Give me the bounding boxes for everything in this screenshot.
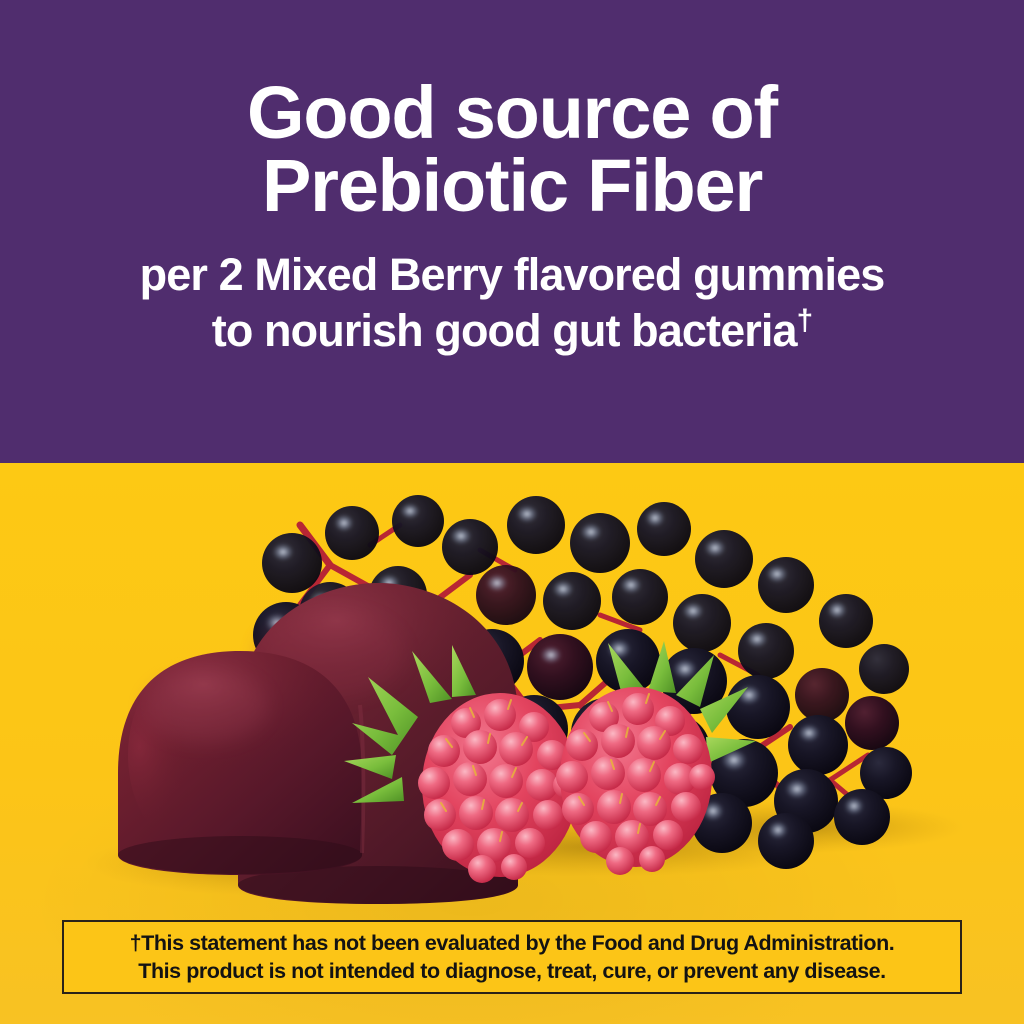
subheadline-line-2: to nourish good gut bacteria†: [22, 303, 1002, 360]
headline: Good source of Prebiotic Fiber: [32, 76, 992, 223]
hero-produce-illustration: [0, 463, 1024, 925]
gummy-front-left: [118, 651, 363, 875]
disclaimer-line-2: This product is not intended to diagnose…: [138, 957, 885, 985]
headline-line-1: Good source of: [32, 76, 992, 149]
fda-disclaimer-box: †This statement has not been evaluated b…: [62, 920, 962, 994]
subheadline-line-1: per 2 Mixed Berry flavored gummies: [22, 247, 1002, 304]
header-band: Good source of Prebiotic Fiber per 2 Mix…: [0, 0, 1024, 463]
subheadline-line-2-text: to nourish good gut bacteria: [212, 305, 797, 356]
subheadline: per 2 Mixed Berry flavored gummies to no…: [22, 247, 1002, 360]
product-claim-card: Good source of Prebiotic Fiber per 2 Mix…: [0, 0, 1024, 1024]
headline-line-2: Prebiotic Fiber: [32, 149, 992, 222]
dagger-symbol: †: [797, 304, 813, 337]
disclaimer-line-1: †This statement has not been evaluated b…: [130, 929, 895, 957]
